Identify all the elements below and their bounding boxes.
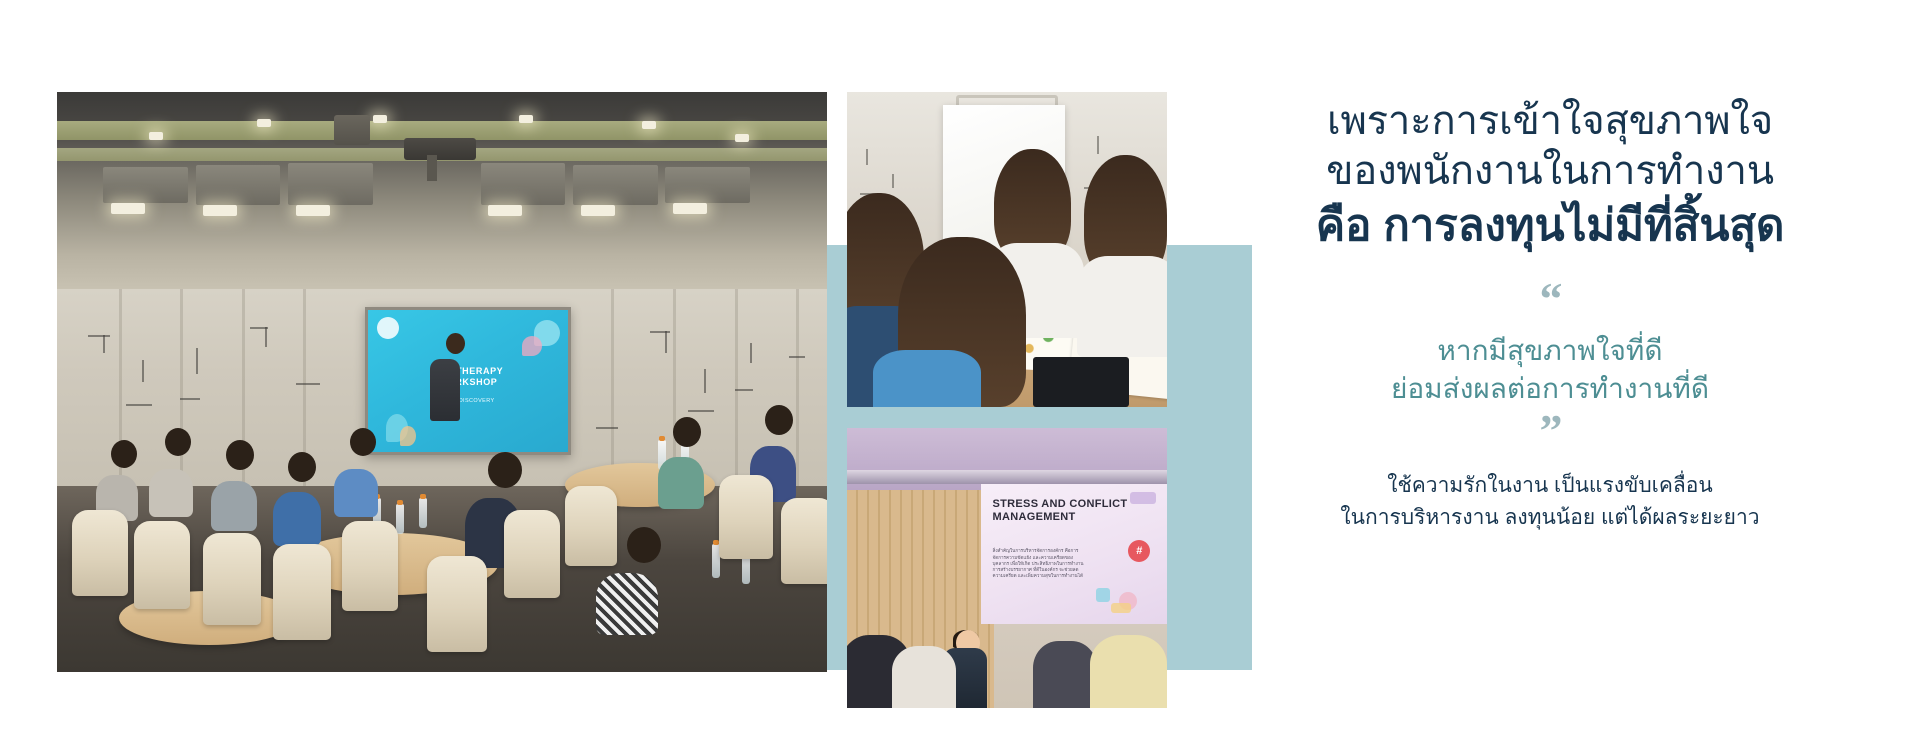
attendee-body <box>658 457 704 509</box>
slide-body-text: สิ่งสำคัญในการบริหารจัดการองค์กร คือการจ… <box>993 548 1090 579</box>
caption-line-2: ในการบริหารงาน ลงทุนน้อย แต่ได้ผลระยะยาว <box>1340 502 1759 534</box>
attendee-body <box>273 492 321 546</box>
audience-member <box>1090 635 1167 708</box>
caption-line-1: ใช้ความรักในงาน เป็นแรงขับเคลื่อน <box>1340 470 1759 502</box>
chair <box>342 521 398 611</box>
speaker-head <box>446 333 465 354</box>
attendee-head <box>673 417 701 447</box>
participant-shirt <box>1077 256 1167 357</box>
attendee-body <box>596 573 658 635</box>
speaker-body <box>430 359 460 421</box>
headline-emphasis: คือ การลงทุนไม่มีที่สิ้นสุด <box>1316 198 1785 254</box>
photo-conference-room-workshop: "Intergood" สร้างสุข กับ กิจกรรม ART THE… <box>57 92 827 672</box>
chair <box>781 498 827 584</box>
tablet-device <box>1033 357 1129 407</box>
chair <box>504 510 560 598</box>
photo-stress-management-presentation: STRESS AND CONFLICT MANAGEMENT # สิ่งสำค… <box>847 428 1167 708</box>
attendee-body <box>149 469 193 517</box>
attendee-head <box>627 527 661 563</box>
chair <box>203 533 261 625</box>
headline-line-2: ของพนักงานในการทำงาน <box>1326 146 1774 196</box>
attendee-head <box>111 440 137 468</box>
ceiling <box>57 92 827 301</box>
attendee-head <box>288 452 316 482</box>
attendee-body <box>211 481 257 531</box>
audience-member <box>892 646 956 708</box>
chair <box>273 544 331 640</box>
presentation-screen: ART THERAPY WORKSHOP SELF DISCOVERY <box>365 307 571 455</box>
slide-title-line1: STRESS AND CONFLICT <box>993 498 1128 510</box>
chair <box>565 486 617 566</box>
quote-line-1: หากมีสุขภาพใจที่ดี <box>1437 332 1662 370</box>
chair <box>427 556 487 652</box>
chair <box>72 510 128 596</box>
quote-line-2: ย่อมส่งผลต่อการทำงานที่ดี <box>1391 370 1709 408</box>
quote-close-mark: ” <box>1539 420 1560 442</box>
attendee-head <box>165 428 191 456</box>
slide-title: ART THERAPY WORKSHOP <box>368 366 568 388</box>
message-panel: เพราะการเข้าใจสุขภาพใจ ของพนักงานในการทำ… <box>1200 0 1900 750</box>
chair <box>134 521 190 609</box>
attendee-head <box>350 428 376 456</box>
attendee-body <box>334 469 378 517</box>
screen-logo <box>377 317 399 339</box>
photo-participants-drawing-activity <box>847 92 1167 407</box>
caption-block: ใช้ความรักในงาน เป็นแรงขับเคลื่อน ในการบ… <box>1340 470 1759 534</box>
slide-title-line2: MANAGEMENT <box>993 511 1076 523</box>
slide-subtitle: SELF DISCOVERY <box>368 398 568 404</box>
participant-shirt <box>873 350 982 407</box>
quote-open-mark: “ <box>1539 288 1560 310</box>
attendee-head <box>488 452 522 488</box>
ceiling-projector <box>404 138 476 160</box>
chair <box>719 475 773 559</box>
quote-block: “ หากมีสุขภาพใจที่ดี ย่อมส่งผลต่อการทำงา… <box>1391 288 1709 442</box>
audience-member <box>1033 641 1097 708</box>
promo-banner: "Intergood" สร้างสุข กับ กิจกรรม ART THE… <box>0 0 1920 750</box>
photo-collage: "Intergood" สร้างสุข กับ กิจกรรม ART THE… <box>57 60 1182 685</box>
headline-line-1: เพราะการเข้าใจสุขภาพใจ <box>1327 96 1773 146</box>
hash-badge: # <box>1128 540 1150 562</box>
slide-title: STRESS AND CONFLICT MANAGEMENT <box>993 498 1156 524</box>
presentation-screen: STRESS AND CONFLICT MANAGEMENT # สิ่งสำค… <box>981 484 1167 624</box>
